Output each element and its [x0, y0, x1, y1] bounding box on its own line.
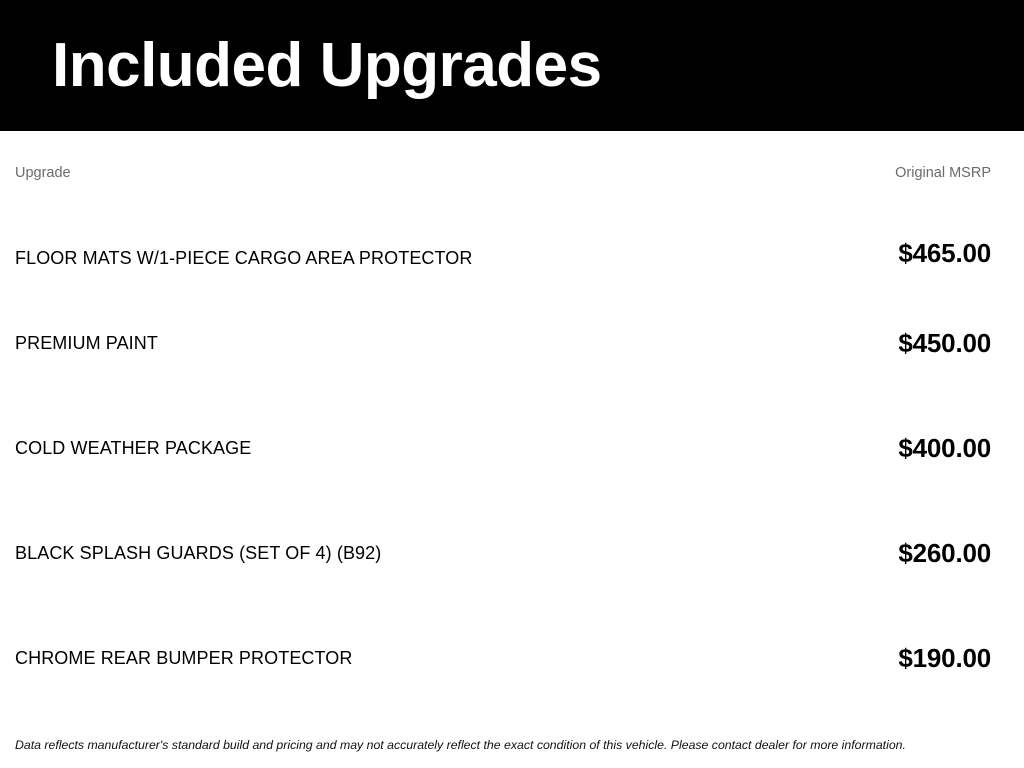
page-title: Included Upgrades [52, 35, 602, 97]
upgrade-name: CHROME REAR BUMPER PROTECTOR [15, 648, 353, 669]
upgrade-name: COLD WEATHER PACKAGE [15, 438, 251, 459]
footer: Data reflects manufacturer's standard bu… [0, 726, 1024, 768]
upgrade-price: $400.00 [898, 434, 991, 464]
table-row: COLD WEATHER PACKAGE $400.00 [15, 396, 991, 501]
column-header-upgrade: Upgrade [15, 166, 71, 181]
table-row: CHROME REAR BUMPER PROTECTOR $190.00 [15, 606, 991, 711]
disclaimer-text: Data reflects manufacturer's standard bu… [15, 738, 906, 753]
upgrades-table: Upgrade Original MSRP FLOOR MATS W/1-PIE… [0, 131, 1024, 726]
table-row: BLACK SPLASH GUARDS (SET OF 4) (B92) $26… [15, 501, 991, 606]
upgrade-price: $190.00 [898, 644, 991, 674]
upgrade-name: BLACK SPLASH GUARDS (SET OF 4) (B92) [15, 543, 381, 564]
column-header-original-msrp: Original MSRP [895, 166, 991, 181]
upgrade-price: $465.00 [898, 239, 991, 269]
upgrade-price: $260.00 [898, 539, 991, 569]
upgrade-name: PREMIUM PAINT [15, 333, 158, 354]
included-upgrades-page: Included Upgrades Upgrade Original MSRP … [0, 0, 1024, 768]
table-column-headers: Upgrade Original MSRP [15, 153, 991, 193]
table-row: PREMIUM PAINT $450.00 [15, 291, 991, 396]
page-header-banner: Included Upgrades [0, 0, 1024, 131]
table-row: FLOOR MATS W/1-PIECE CARGO AREA PROTECTO… [15, 199, 991, 291]
table-body: FLOOR MATS W/1-PIECE CARGO AREA PROTECTO… [15, 199, 991, 711]
upgrade-price: $450.00 [898, 329, 991, 359]
upgrade-name: FLOOR MATS W/1-PIECE CARGO AREA PROTECTO… [15, 248, 473, 269]
